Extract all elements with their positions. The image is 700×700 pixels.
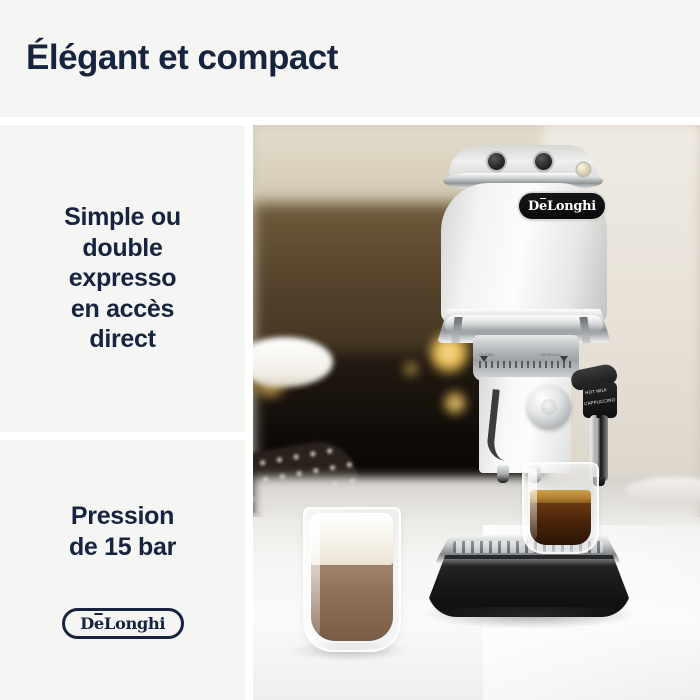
espresso-coffee <box>530 502 591 545</box>
machine-base-shadow <box>423 607 638 629</box>
power-button[interactable] <box>577 163 590 176</box>
espresso-crema <box>530 490 591 503</box>
espresso-machine: DeLonghi CLEAN DESCALE <box>423 139 623 659</box>
scale-label-right: DESCALE <box>541 352 561 357</box>
machine-delonghi-badge: DeLonghi <box>519 193 605 219</box>
espresso-glass-highlight <box>528 468 537 540</box>
cappuccino-glass <box>303 507 401 652</box>
delonghi-logo: DeLonghi <box>62 608 184 639</box>
machine-hose <box>485 389 533 463</box>
feature-line: en accès <box>64 294 181 325</box>
feature-line: Simple ou <box>64 202 181 233</box>
feature-line: expresso <box>64 263 181 294</box>
header-panel: Élégant et compact <box>0 0 700 117</box>
machine-base-highlight <box>441 559 617 566</box>
feature-panel-double-expresso: Simple ou double expresso en accès direc… <box>0 125 245 432</box>
coffee-spout-left <box>497 465 509 483</box>
single-shot-button[interactable] <box>488 153 505 170</box>
cappuccino-glass-highlight <box>309 517 320 637</box>
product-photo: DeLonghi CLEAN DESCALE <box>253 125 700 700</box>
feature-column: Simple ou double expresso en accès direc… <box>0 125 245 700</box>
machine-scale-marks <box>479 361 573 368</box>
feature-line: Pression <box>69 501 176 532</box>
feature-text-double-expresso: Simple ou double expresso en accès direc… <box>44 202 201 355</box>
page-title: Élégant et compact <box>26 40 338 77</box>
feature-line: direct <box>64 324 181 355</box>
machine-steam-knob-center <box>541 399 557 415</box>
product-feature-card: Élégant et compact Simple ou double expr… <box>0 0 700 700</box>
feature-panel-pressure: Pression de 15 bar DeLonghi <box>0 440 245 700</box>
double-shot-button[interactable] <box>535 153 552 170</box>
feature-line: de 15 bar <box>69 532 176 563</box>
espresso-glass <box>522 462 599 554</box>
machine-badge-text: DeLonghi <box>528 200 596 213</box>
feature-line: double <box>64 233 181 264</box>
feature-text-pressure: Pression de 15 bar <box>49 501 196 562</box>
product-photo-panel: DeLonghi CLEAN DESCALE <box>253 125 700 700</box>
bokeh-light <box>403 360 419 378</box>
cappuccino-foam <box>311 513 393 565</box>
delonghi-logo-text: DeLonghi <box>80 616 165 632</box>
cappuccino-milk-coffee <box>311 563 393 641</box>
